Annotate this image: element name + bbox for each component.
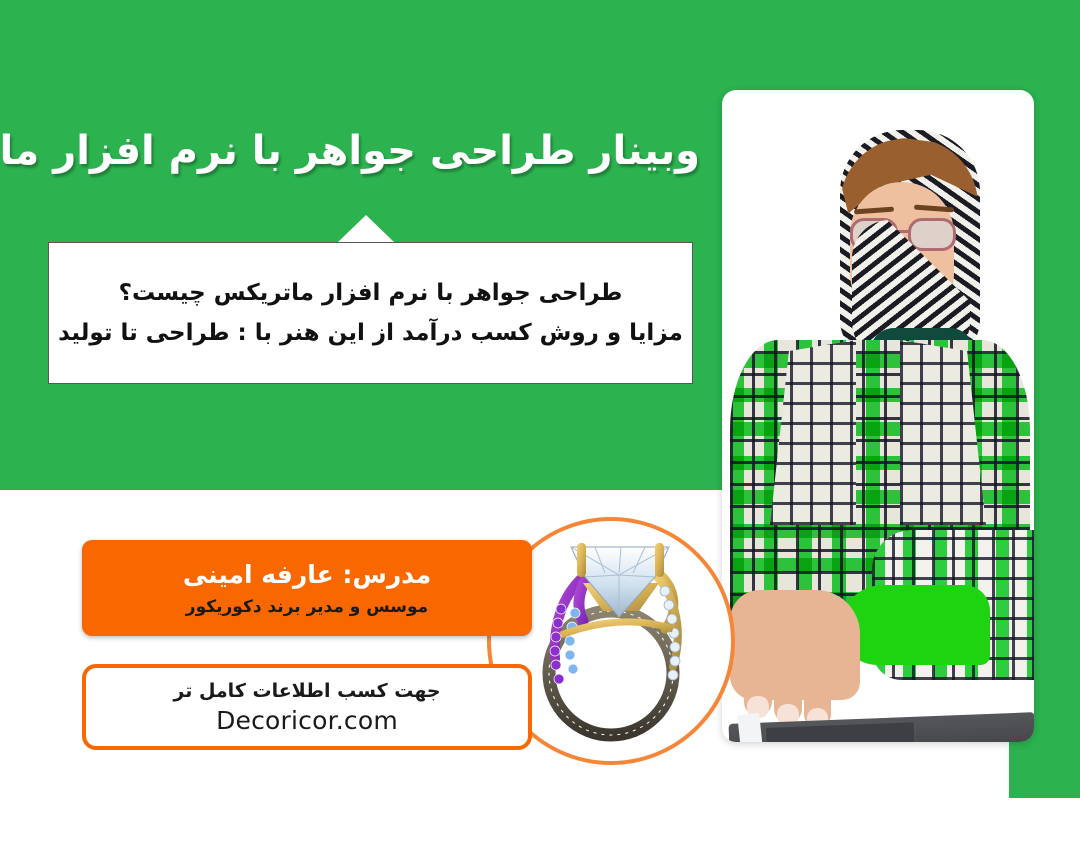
subtitle-line-2: مزایا و روش کسب درآمد از این هنر با : طر…	[58, 320, 683, 346]
instructor-info-box: مدرس: عارفه امینی موسس و مدیر برند دکوری…	[82, 540, 532, 636]
instructor-photo	[722, 90, 1034, 742]
subtitle-line-1: طراحی جواهر با نرم افزار ماتریکس چیست؟	[119, 280, 623, 306]
lens-right	[908, 218, 956, 251]
website-url[interactable]: Decoricor.com	[216, 706, 398, 735]
page-title: وبینار طراحی جواهر با نرم افزار ماتریکس	[40, 128, 700, 174]
subtitle-panel: طراحی جواهر با نرم افزار ماتریکس چیست؟ م…	[48, 242, 693, 384]
green-cushion	[840, 585, 990, 665]
person-illustration	[722, 90, 1034, 742]
instructor-name: مدرس: عارفه امینی	[183, 560, 431, 589]
instructor-photo-card	[722, 90, 1034, 742]
webinar-poster: وبینار طراحی جواهر با نرم افزار ماتریکس …	[0, 0, 1080, 853]
instructor-role: موسس و مدیر برند دکوریکور	[186, 597, 428, 617]
triangle-pointer-icon	[337, 215, 395, 243]
cta-box[interactable]: جهت کسب اطلاعات کامل تر Decoricor.com	[82, 664, 532, 750]
cta-label: جهت کسب اطلاعات کامل تر	[173, 680, 440, 702]
